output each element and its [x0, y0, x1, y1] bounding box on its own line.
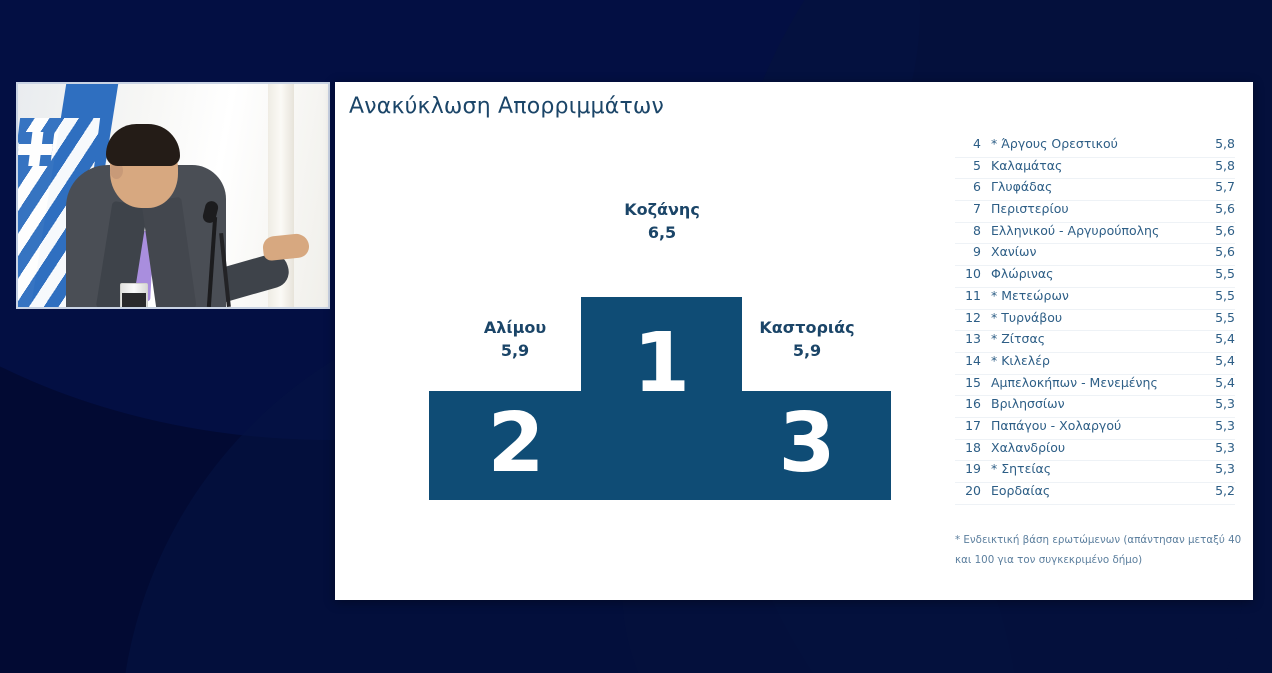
rank-index: 20 [955, 483, 981, 498]
rank-index: 7 [955, 201, 981, 216]
rank-value: 5,5 [1201, 266, 1235, 281]
rank-name: Καλαμάτας [981, 158, 1201, 173]
rank-value: 5,5 [1201, 288, 1235, 303]
table-row: 12* Τυρνάβου5,5 [955, 310, 1235, 332]
rank-index: 9 [955, 244, 981, 259]
rank-name: Χανίων [981, 244, 1201, 259]
table-row: 7Περιστερίου5,6 [955, 201, 1235, 223]
rank-value: 5,8 [1201, 136, 1235, 151]
table-row: 6Γλυφάδας5,7 [955, 179, 1235, 201]
slide-card: Ανακύκλωση Απορριμμάτων 1 2 3 Κοζάνης 6,… [335, 82, 1253, 600]
ranking-list: 4* Άργους Ορεστικού5,85Καλαμάτας5,86Γλυφ… [955, 136, 1235, 505]
table-row: 20Εορδαίας5,2 [955, 483, 1235, 505]
rank-index: 16 [955, 396, 981, 411]
table-row: 8Ελληνικού - Αργυρούπολης5,6 [955, 223, 1235, 245]
table-row: 9Χανίων5,6 [955, 244, 1235, 266]
table-row: 15Αμπελοκήπων - Μενεμένης5,4 [955, 375, 1235, 397]
rank-name: * Άργους Ορεστικού [981, 136, 1201, 151]
rank-index: 17 [955, 418, 981, 433]
rank-value: 5,7 [1201, 179, 1235, 194]
rank-index: 14 [955, 353, 981, 368]
rank-value: 5,5 [1201, 310, 1235, 325]
water-glass [120, 283, 148, 309]
rank-value: 5,4 [1201, 331, 1235, 346]
podium-chart: 1 2 3 Κοζάνης 6,5 Αλίμου 5,9 Καστοριάς 5… [429, 291, 891, 500]
podium-second-place-name: Αλίμου [449, 317, 581, 340]
presentation-screen: Ανακύκλωση Απορριμμάτων 1 2 3 Κοζάνης 6,… [0, 0, 1272, 673]
rank-value: 5,4 [1201, 375, 1235, 390]
rank-index: 15 [955, 375, 981, 390]
rank-index: 10 [955, 266, 981, 281]
rank-value: 5,6 [1201, 201, 1235, 216]
rank-index: 11 [955, 288, 981, 303]
rank-value: 5,3 [1201, 440, 1235, 455]
podium-first-place-value: 6,5 [599, 222, 725, 245]
table-row: 10Φλώρινας5,5 [955, 266, 1235, 288]
rank-index: 4 [955, 136, 981, 151]
rank-name: * Τυρνάβου [981, 310, 1201, 325]
rank-value: 5,3 [1201, 396, 1235, 411]
podium-rank-1-number: 1 [581, 323, 742, 405]
rank-name: * Σητείας [981, 461, 1201, 476]
table-row: 18Χαλανδρίου5,3 [955, 440, 1235, 462]
rank-name: Παπάγου - Χολαργού [981, 418, 1201, 433]
rank-value: 5,6 [1201, 223, 1235, 238]
rank-value: 5,4 [1201, 353, 1235, 368]
table-row: 19* Σητείας5,3 [955, 461, 1235, 483]
podium-first-place-name: Κοζάνης [599, 199, 725, 222]
rank-name: Αμπελοκήπων - Μενεμένης [981, 375, 1201, 390]
rank-name: Χαλανδρίου [981, 440, 1201, 455]
rank-index: 8 [955, 223, 981, 238]
podium-rank-3-number: 3 [744, 403, 870, 485]
rank-name: Φλώρινας [981, 266, 1201, 281]
rank-index: 18 [955, 440, 981, 455]
podium-first-place-label: Κοζάνης 6,5 [599, 199, 725, 244]
table-row: 11* Μετεώρων5,5 [955, 288, 1235, 310]
podium-third-place-label: Καστοριάς 5,9 [741, 317, 873, 362]
list-footnote: * Ενδεικτική βάση ερωτώμενων (απάντησαν … [955, 530, 1243, 570]
rank-value: 5,3 [1201, 418, 1235, 433]
table-row: 5Καλαμάτας5,8 [955, 158, 1235, 180]
rank-index: 5 [955, 158, 981, 173]
rank-name: Εορδαίας [981, 483, 1201, 498]
rank-name: * Κιλελέρ [981, 353, 1201, 368]
table-row: 14* Κιλελέρ5,4 [955, 353, 1235, 375]
podium-rank-2-number: 2 [453, 403, 579, 485]
rank-value: 5,2 [1201, 483, 1235, 498]
rank-index: 19 [955, 461, 981, 476]
rank-name: Περιστερίου [981, 201, 1201, 216]
rank-name: Βριλησσίων [981, 396, 1201, 411]
rank-value: 5,6 [1201, 244, 1235, 259]
podium-second-place-label: Αλίμου 5,9 [449, 317, 581, 362]
table-row: 16Βριλησσίων5,3 [955, 396, 1235, 418]
rank-name: Γλυφάδας [981, 179, 1201, 194]
podium-third-place-value: 5,9 [741, 340, 873, 363]
page-title: Ανακύκλωση Απορριμμάτων [349, 94, 664, 119]
rank-index: 12 [955, 310, 981, 325]
rank-value: 5,3 [1201, 461, 1235, 476]
podium-third-place-name: Καστοριάς [741, 317, 873, 340]
rank-index: 13 [955, 331, 981, 346]
podium-second-place-value: 5,9 [449, 340, 581, 363]
table-row: 4* Άργους Ορεστικού5,8 [955, 136, 1235, 158]
table-row: 13* Ζίτσας5,4 [955, 331, 1235, 353]
rank-name: * Ζίτσας [981, 331, 1201, 346]
rank-value: 5,8 [1201, 158, 1235, 173]
table-row: 17Παπάγου - Χολαργού5,3 [955, 418, 1235, 440]
speaker-video-thumbnail[interactable] [16, 82, 330, 309]
rank-name: Ελληνικού - Αργυρούπολης [981, 223, 1201, 238]
rank-index: 6 [955, 179, 981, 194]
rank-name: * Μετεώρων [981, 288, 1201, 303]
